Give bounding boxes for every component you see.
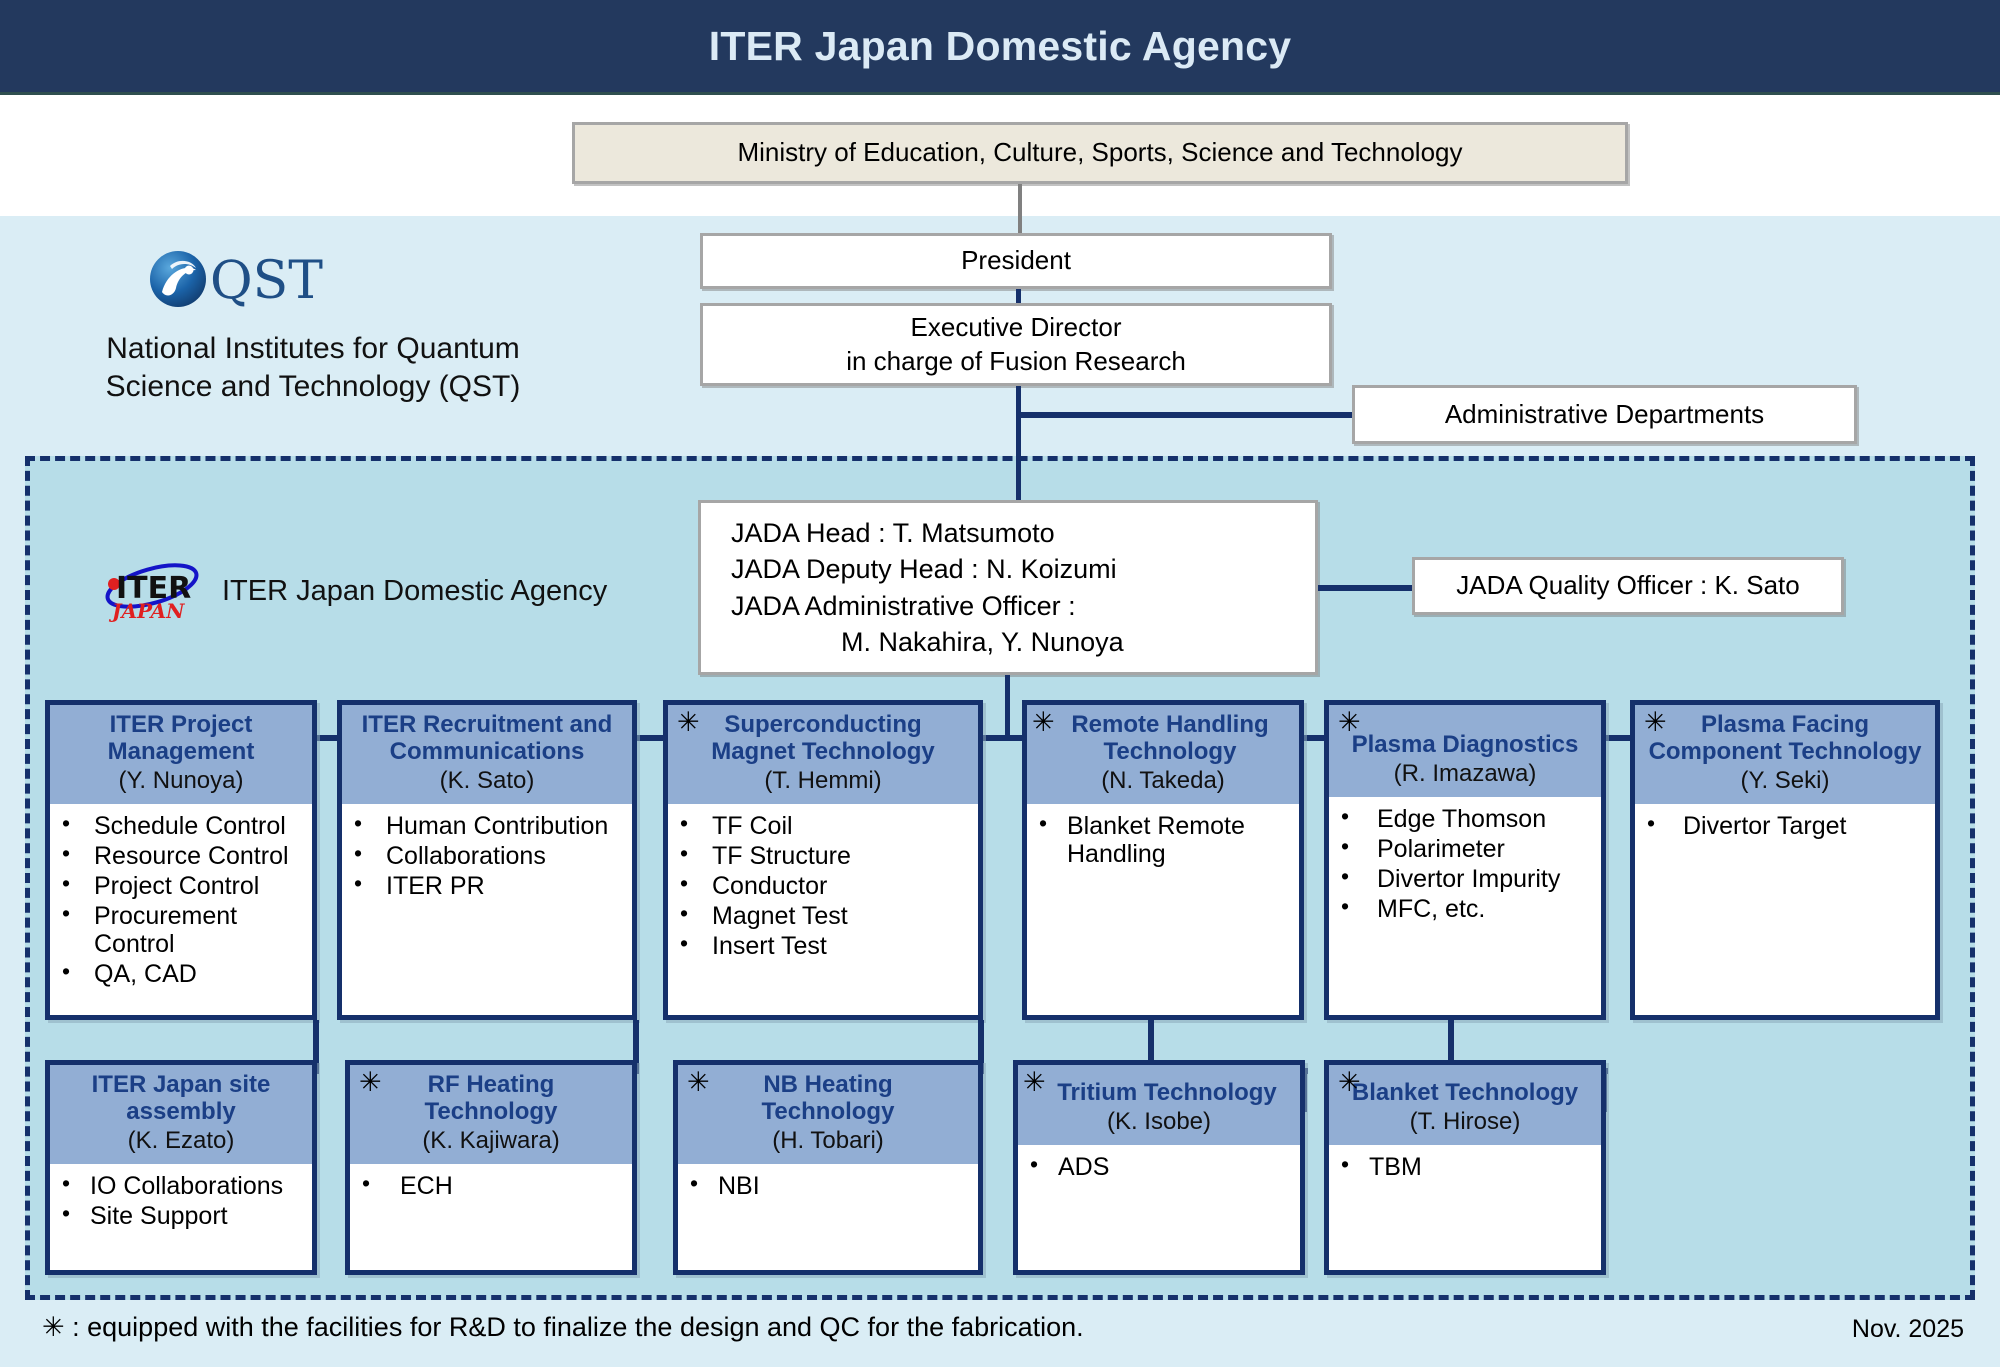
iter-japan-logo: ITER JAPAN [100,562,210,624]
card-body: Edge Thomson Polarimeter Divertor Impuri… [1329,797,1601,1015]
svg-text:QST: QST [210,251,323,310]
connector-ministry-president [1018,184,1022,233]
connector-exec-admin [1016,412,1356,418]
right-margin-band [1975,456,2000,1300]
card-title: ITER Project Management [56,712,306,766]
asterisk-icon: ✳ [1023,1069,1046,1096]
list-item: Resource Control [60,842,306,870]
list-item: Blanket Remote Handling [1037,812,1293,868]
card-body: IO Collaborations Site Support [50,1164,312,1270]
dept-card-rf-heating-technology[interactable]: ✳ RF Heating Technology (K. Kajiwara) EC… [345,1060,637,1275]
card-body: Schedule Control Resource Control Projec… [50,804,312,1015]
list-item: Magnet Test [678,902,972,930]
card-header: ITER Japan site assembly (K. Ezato) [50,1065,312,1164]
card-lead: (K. Kajiwara) [356,1127,626,1156]
jada-head-text: JADA Head : T. Matsumoto JADA Deputy Hea… [701,515,1315,660]
list-item: ADS [1028,1153,1294,1181]
list-item: Insert Test [678,932,972,960]
card-header: ✳ RF Heating Technology (K. Kajiwara) [350,1065,632,1164]
iter-japan-caption: ITER Japan Domestic Agency [222,575,607,608]
list-item: Collaborations [352,842,626,870]
card-title: Remote Handling Technology [1033,712,1293,766]
card-lead: (Y. Nunoya) [56,767,306,796]
card-header: ✳ Superconducting Magnet Technology (T. … [668,705,978,804]
executive-director-line2: in charge of Fusion Research [717,345,1315,378]
card-item-list: Edge Thomson Polarimeter Divertor Impuri… [1339,805,1595,923]
card-title: Plasma Facing Component Technology [1641,712,1929,766]
list-item: Schedule Control [60,812,306,840]
card-title: ITER Japan site assembly [56,1072,306,1126]
dept-card-plasma-facing-component-technology[interactable]: ✳ Plasma Facing Component Technology (Y.… [1630,700,1940,1020]
card-body: NBI [678,1164,978,1270]
card-item-list: Schedule Control Resource Control Projec… [60,812,306,988]
list-item: Human Contribution [352,812,626,840]
asterisk-icon: ✳ [687,1069,710,1096]
card-item-list: Divertor Target [1645,812,1929,840]
jada-head-box[interactable]: JADA Head : T. Matsumoto JADA Deputy Hea… [698,500,1318,675]
asterisk-icon: ✳ [1338,709,1361,736]
president-label: President [703,244,1329,277]
list-item: Polarimeter [1339,835,1595,863]
jada-deputy-head-line: JADA Deputy Head : N. Koizumi [731,551,1301,587]
card-title: Plasma Diagnostics [1335,732,1595,759]
jada-head-line: JADA Head : T. Matsumoto [731,515,1301,551]
card-header: ITER Project Management (Y. Nunoya) [50,705,312,804]
dept-card-superconducting-magnet-technology[interactable]: ✳ Superconducting Magnet Technology (T. … [663,700,983,1020]
list-item: NBI [688,1172,972,1200]
list-item: ITER PR [352,872,626,900]
card-body: Human Contribution Collaborations ITER P… [342,804,632,1015]
qst-caption-line1: National Institutes for Quantum [68,330,558,368]
list-item: Edge Thomson [1339,805,1595,833]
connector-jada-quality-officer [1318,585,1418,591]
card-title: NB Heating Technology [684,1072,972,1126]
card-item-list: TF Coil TF Structure Conductor Magnet Te… [678,812,972,960]
card-title: Superconducting Magnet Technology [674,712,972,766]
connector-jada-trunk [1005,675,1010,739]
administrative-departments-label: Administrative Departments [1355,398,1854,431]
qst-caption-line2: Science and Technology (QST) [68,368,558,406]
card-title: ITER Recruitment and Communications [348,712,626,766]
executive-director-box[interactable]: Executive Director in charge of Fusion R… [700,303,1332,386]
card-header: ITER Recruitment and Communications (K. … [342,705,632,804]
footer-note: ✳ : equipped with the facilities for R&D… [42,1312,1084,1343]
card-header: ✳ Plasma Diagnostics (R. Imazawa) [1329,705,1601,797]
asterisk-icon: ✳ [1032,709,1055,736]
list-item: TF Coil [678,812,972,840]
card-item-list: Blanket Remote Handling [1037,812,1293,868]
card-item-list: ECH [360,1172,626,1200]
list-item: Divertor Impurity [1339,865,1595,893]
card-lead: (R. Imazawa) [1335,760,1595,789]
card-item-list: IO Collaborations Site Support [60,1172,306,1230]
list-item: ECH [360,1172,626,1200]
executive-director-text: Executive Director in charge of Fusion R… [703,311,1329,378]
left-margin-band [0,456,25,1300]
dept-card-iter-project-management[interactable]: ITER Project Management (Y. Nunoya) Sche… [45,700,317,1020]
quality-officer-box[interactable]: JADA Quality Officer : K. Sato [1412,557,1844,615]
list-item: Conductor [678,872,972,900]
card-lead: (K. Isobe) [1024,1108,1294,1137]
list-item: Project Control [60,872,306,900]
svg-text:JAPAN: JAPAN [108,599,185,623]
asterisk-icon: ✳ [359,1069,382,1096]
card-header: ✳ NB Heating Technology (H. Tobari) [678,1065,978,1164]
card-body: TBM [1329,1145,1601,1270]
card-header: ✳ Tritium Technology (K. Isobe) [1018,1065,1300,1145]
qst-logo: QST [148,248,358,310]
ministry-label: Ministry of Education, Culture, Sports, … [575,136,1625,169]
card-body: TF Coil TF Structure Conductor Magnet Te… [668,804,978,1015]
ministry-box[interactable]: Ministry of Education, Culture, Sports, … [572,122,1628,184]
dept-card-tritium-technology[interactable]: ✳ Tritium Technology (K. Isobe) ADS [1013,1060,1305,1275]
dept-card-iter-recruitment-communications[interactable]: ITER Recruitment and Communications (K. … [337,700,637,1020]
card-lead: (T. Hemmi) [674,767,972,796]
card-body: ECH [350,1164,632,1270]
card-lead: (Y. Seki) [1641,767,1929,796]
administrative-departments-box[interactable]: Administrative Departments [1352,385,1857,444]
list-item: TBM [1339,1153,1595,1181]
list-item: Procurement Control [60,902,306,958]
card-header: ✳ Remote Handling Technology (N. Takeda) [1027,705,1299,804]
card-lead: (K. Ezato) [56,1127,306,1156]
dept-card-remote-handling-technology[interactable]: ✳ Remote Handling Technology (N. Takeda)… [1022,700,1304,1020]
card-lead: (N. Takeda) [1033,767,1293,796]
card-lead: (T. Hirose) [1335,1108,1595,1137]
card-item-list: ADS [1028,1153,1294,1181]
list-item: QA, CAD [60,960,306,988]
card-lead: (K. Sato) [348,767,626,796]
card-body: Divertor Target [1635,804,1935,1015]
executive-director-line1: Executive Director [717,311,1315,344]
president-box[interactable]: President [700,233,1332,289]
card-item-list: TBM [1339,1153,1595,1181]
quality-officer-label: JADA Quality Officer : K. Sato [1415,569,1841,602]
list-item: MFC, etc. [1339,895,1595,923]
asterisk-icon: ✳ [677,709,700,736]
dept-card-plasma-diagnostics[interactable]: ✳ Plasma Diagnostics (R. Imazawa) Edge T… [1324,700,1606,1020]
footer-date: Nov. 2025 [1852,1315,1964,1344]
card-body: Blanket Remote Handling [1027,804,1299,1015]
card-title: Tritium Technology [1024,1080,1294,1107]
dept-card-blanket-technology[interactable]: ✳ Blanket Technology (T. Hirose) TBM [1324,1060,1606,1275]
jada-admin-officer-names: M. Nakahira, Y. Nunoya [731,624,1301,660]
asterisk-icon: ✳ [1644,709,1667,736]
card-item-list: NBI [688,1172,972,1200]
list-item: IO Collaborations [60,1172,306,1200]
connector-exec-down [1016,386,1021,504]
list-item: TF Structure [678,842,972,870]
page-title-bar: ITER Japan Domestic Agency [0,0,2000,95]
list-item: Site Support [60,1202,306,1230]
card-lead: (H. Tobari) [684,1127,972,1156]
list-item: Divertor Target [1645,812,1929,840]
card-title: RF Heating Technology [356,1072,626,1126]
card-title: Blanket Technology [1335,1080,1595,1107]
card-header: ✳ Blanket Technology (T. Hirose) [1329,1065,1601,1145]
asterisk-icon: ✳ [1338,1069,1361,1096]
page-title: ITER Japan Domestic Agency [0,0,2000,92]
org-chart-page: ITER Japan Domestic Agency QST National … [0,0,2000,1367]
card-body: ADS [1018,1145,1300,1270]
card-header: ✳ Plasma Facing Component Technology (Y.… [1635,705,1935,804]
dept-card-nb-heating-technology[interactable]: ✳ NB Heating Technology (H. Tobari) NBI [673,1060,983,1275]
qst-caption: National Institutes for Quantum Science … [68,330,558,407]
card-item-list: Human Contribution Collaborations ITER P… [352,812,626,900]
jada-admin-officer-line: JADA Administrative Officer : [731,588,1301,624]
dept-card-iter-japan-site-assembly[interactable]: ITER Japan site assembly (K. Ezato) IO C… [45,1060,317,1275]
